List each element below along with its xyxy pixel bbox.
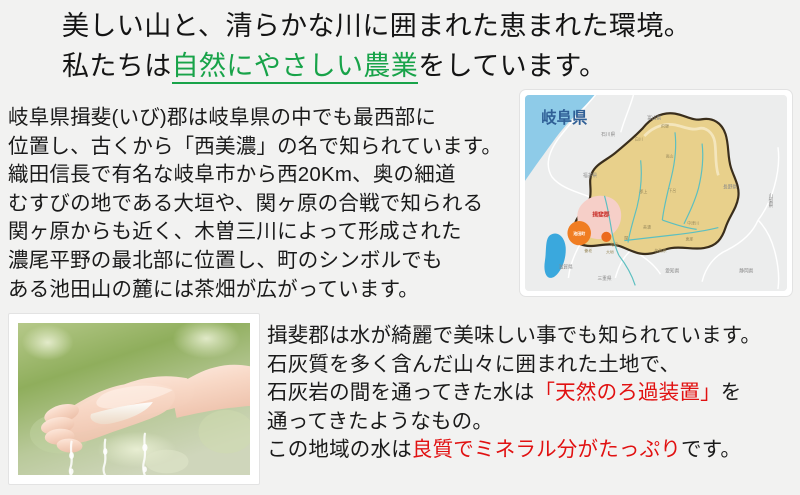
intro-line: 織田信長で有名な岐阜市から西20Km、奥の細道: [8, 161, 518, 190]
water-line-2: 石灰質を多く含んだ山々に囲まれた土地で、: [267, 351, 797, 380]
water-highlight-natural-filter: 「天然のろ過装置」: [534, 381, 720, 404]
water-line-4: 通ってきたようなもの。: [267, 408, 797, 437]
gifu-prefecture-map-panel: 富山県 石川県 福井県 長野県 山梨県 静岡県 愛知県 三重県 滋賀県 飛騨 白…: [519, 89, 793, 297]
water-paragraph: 揖斐郡は水が綺麗で美味しい事でも知られています。 石灰質を多く含んだ山々に囲まれ…: [267, 322, 797, 465]
map-title: 岐阜県: [541, 108, 587, 127]
map-inner-label-kakamigahara: 各務原: [655, 247, 667, 253]
map-inner-label-ogaki: 大垣: [606, 249, 614, 255]
map-label-yamanashi: 山梨県: [767, 192, 772, 209]
heading-highlight-eco-farming: 自然にやさしい農業: [172, 51, 419, 84]
map-inner-label-gujo: 郡上: [639, 188, 647, 194]
map-inner-label-gifu: 岐阜: [610, 241, 618, 247]
page-heading: 美しい山と、清らかな川に囲まれた恵まれた環境。 私たちは自然にやさしい農業をして…: [62, 6, 762, 86]
water-line-3-suffix: を: [721, 381, 742, 404]
intro-line: むすびの地である大垣や、関ヶ原の合戦で知られる: [8, 190, 518, 219]
heading-line-2: 私たちは自然にやさしい農業をしています。: [62, 46, 762, 86]
water-line-1: 揖斐郡は水が綺麗で美味しい事でも知られています。: [267, 322, 797, 351]
secondary-marker: [601, 232, 611, 242]
cupped-hands-photo-illustration: [18, 323, 250, 475]
intro-line: 岐阜県揖斐(いび)郡は岐阜県の中でも最西部に: [8, 104, 518, 133]
map-inner-label-mino: 美濃: [643, 223, 651, 229]
water-photo-frame: [8, 313, 260, 485]
intro-line: 関ヶ原からも近く、木曽三川によって形成された: [8, 218, 518, 247]
map-inner-label-takayama: 高山: [666, 152, 674, 158]
water-line-5-prefix: この地域の水は: [267, 438, 412, 461]
intro-line: 位置し、古くから「西美濃」の名で知られています。: [8, 133, 518, 162]
map-inner-label-hida: 飛騨: [661, 123, 669, 129]
heading-line-2-prefix: 私たちは: [62, 51, 172, 81]
intro-line: 濃尾平野の最北部に位置し、町のシンボルでも: [8, 247, 518, 276]
intro-line: ある池田山の麓には茶畑が広がっています。: [8, 276, 518, 305]
water-line-5-suffix: です。: [681, 438, 741, 461]
map-inner-label-shirakawa: 白川: [635, 136, 643, 142]
map-inner-label-ena: 恵那: [685, 236, 693, 242]
map-inner-label-seki: 関: [624, 235, 628, 241]
map-marker-label-ikeda: 池田町: [573, 230, 585, 236]
map-inner-label-nakatsugawa: 中津川: [687, 220, 699, 226]
intro-paragraph: 岐阜県揖斐(いび)郡は岐阜県の中でも最西部に 位置し、古くから「西美濃」の名で知…: [8, 104, 518, 304]
heading-line-1: 美しい山と、清らかな川に囲まれた恵まれた環境。: [62, 6, 762, 46]
water-line-5: この地域の水は良質でミネラル分がたっぷりです。: [267, 436, 797, 465]
map-label-ishikawa: 石川県: [601, 132, 615, 138]
water-highlight-mineral-rich: 良質でミネラル分がたっぷり: [412, 438, 681, 461]
map-illustration: 富山県 石川県 福井県 長野県 山梨県 静岡県 愛知県 三重県 滋賀県 飛騨 白…: [525, 95, 787, 291]
water-photo: [18, 323, 250, 475]
water-line-3-prefix: 石灰岩の間を通ってきた水は: [267, 381, 534, 404]
map-canvas: 富山県 石川県 福井県 長野県 山梨県 静岡県 愛知県 三重県 滋賀県 飛騨 白…: [525, 95, 787, 291]
map-inner-label-gero: 下呂: [668, 188, 676, 193]
heading-line-2-suffix: をしています。: [418, 51, 606, 81]
map-inner-label-yoro: 養老: [584, 247, 592, 253]
water-line-3: 石灰岩の間を通ってきた水は「天然のろ過装置」を: [267, 379, 797, 408]
map-label-ibi-gun: 揖斐郡: [592, 210, 609, 218]
